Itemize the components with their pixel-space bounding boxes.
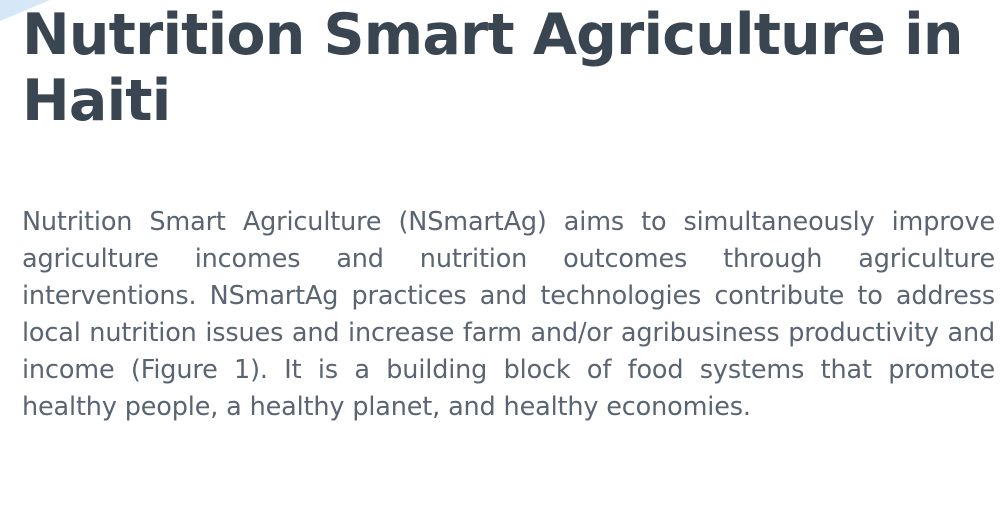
intro-paragraph: Nutrition Smart Agriculture (NSmartAg) a… bbox=[22, 204, 995, 426]
document-page: Nutrition Smart Agriculture in Haiti Nut… bbox=[0, 0, 1000, 505]
page-title: Nutrition Smart Agriculture in Haiti bbox=[22, 2, 982, 134]
